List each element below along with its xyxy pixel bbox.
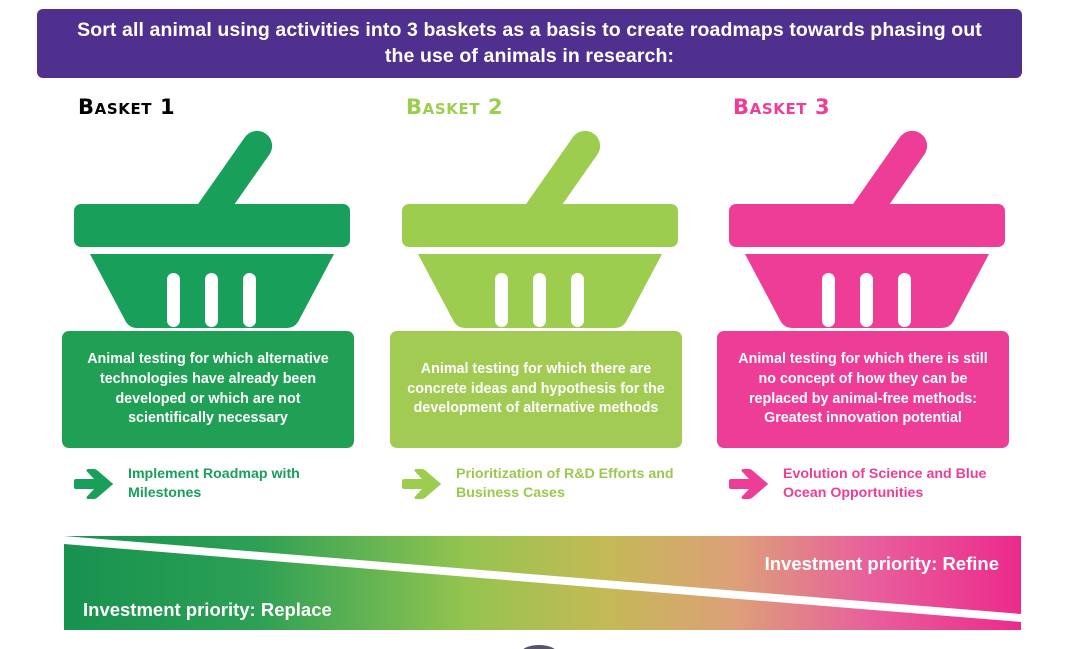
- description-card-3: Animal testing for which there is still …: [717, 331, 1009, 448]
- outcome-row-1: Implement Roadmap with Milestones: [62, 465, 362, 503]
- investment-priority-band: Investment priority: Refine Investment p…: [64, 536, 1021, 634]
- outcome-label-2: Prioritization of R&D Efforts and Busine…: [456, 465, 690, 503]
- description-card-1: Animal testing for which alternative tec…: [62, 331, 354, 448]
- shopping-basket-icon-2: [390, 126, 690, 331]
- description-card-2: Animal testing for which there are concr…: [390, 331, 682, 448]
- outcome-label-3: Evolution of Science and Blue Ocean Oppo…: [783, 465, 1017, 503]
- header-banner: Sort all animal using activities into 3 …: [37, 9, 1022, 78]
- arrow-right-icon-3: [729, 468, 771, 500]
- basket-title-1: Basket 1: [78, 92, 362, 122]
- bottom-cutoff-artifact: [521, 645, 557, 649]
- arrow-right-icon-1: [74, 468, 116, 500]
- basket-column-2: Basket 2 Animal testing for which there …: [390, 92, 690, 503]
- outcome-label-1: Implement Roadmap with Milestones: [128, 465, 362, 503]
- basket-column-3: Basket 3 Animal testing for which there …: [717, 92, 1017, 503]
- shopping-basket-icon-1: [62, 126, 362, 331]
- description-text-1: Animal testing for which alternative tec…: [76, 350, 340, 429]
- outcome-row-2: Prioritization of R&D Efforts and Busine…: [390, 465, 690, 503]
- arrow-right-icon-2: [402, 468, 444, 500]
- description-text-2: Animal testing for which there are concr…: [404, 360, 668, 419]
- basket-title-3: Basket 3: [733, 92, 1017, 122]
- investment-priority-replace-label: Investment priority: Replace: [83, 599, 332, 621]
- basket-title-2: Basket 2: [406, 92, 690, 122]
- investment-priority-refine-label: Investment priority: Refine: [765, 553, 999, 575]
- outcome-row-3: Evolution of Science and Blue Ocean Oppo…: [717, 465, 1017, 503]
- description-text-3: Animal testing for which there is still …: [731, 350, 995, 429]
- page-title: Sort all animal using activities into 3 …: [71, 18, 988, 70]
- infographic-canvas: Sort all animal using activities into 3 …: [0, 0, 1080, 649]
- shopping-basket-icon-3: [717, 126, 1017, 331]
- basket-column-1: Basket 1 Animal testing for which altern…: [62, 92, 362, 503]
